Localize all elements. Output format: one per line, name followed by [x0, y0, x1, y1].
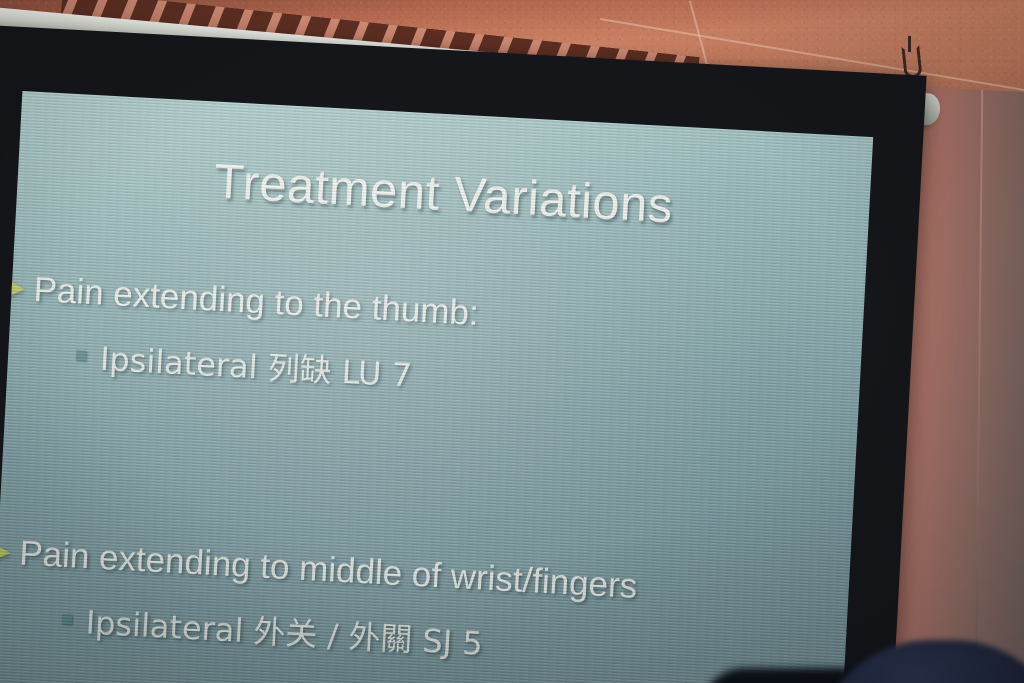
- triangle-bullet-icon: [0, 275, 25, 302]
- bullet-level2-label: Ipsilateral 列缺 LU 7: [99, 334, 413, 397]
- square-bullet-icon: [76, 350, 87, 361]
- triangle-bullet-icon: [0, 539, 11, 566]
- bullet-group: Pain extending to the thumb: Ipsilateral…: [7, 269, 863, 421]
- square-bullet-icon: [62, 614, 73, 625]
- bullet-level1-label: Pain extending to the thumb:: [33, 270, 480, 334]
- bullet-level2-label: Ipsilateral 外关 / 外關 SJ 5: [85, 597, 484, 664]
- photo-scene: Treatment Variations Pain extending to t…: [0, 0, 1024, 683]
- projection-screen-surface: Treatment Variations Pain extending to t…: [0, 91, 873, 683]
- bullet-level1-label: Pain extending to middle of wrist/finger…: [18, 534, 638, 607]
- presentation-slide: Treatment Variations Pain extending to t…: [0, 91, 873, 683]
- slide-title: Treatment Variations: [17, 143, 871, 245]
- projection-screen-frame: Treatment Variations Pain extending to t…: [0, 24, 927, 683]
- slide-body: Pain extending to the thumb: Ipsilateral…: [0, 269, 864, 683]
- bullet-group: Pain extending to middle of wrist/finger…: [0, 532, 849, 683]
